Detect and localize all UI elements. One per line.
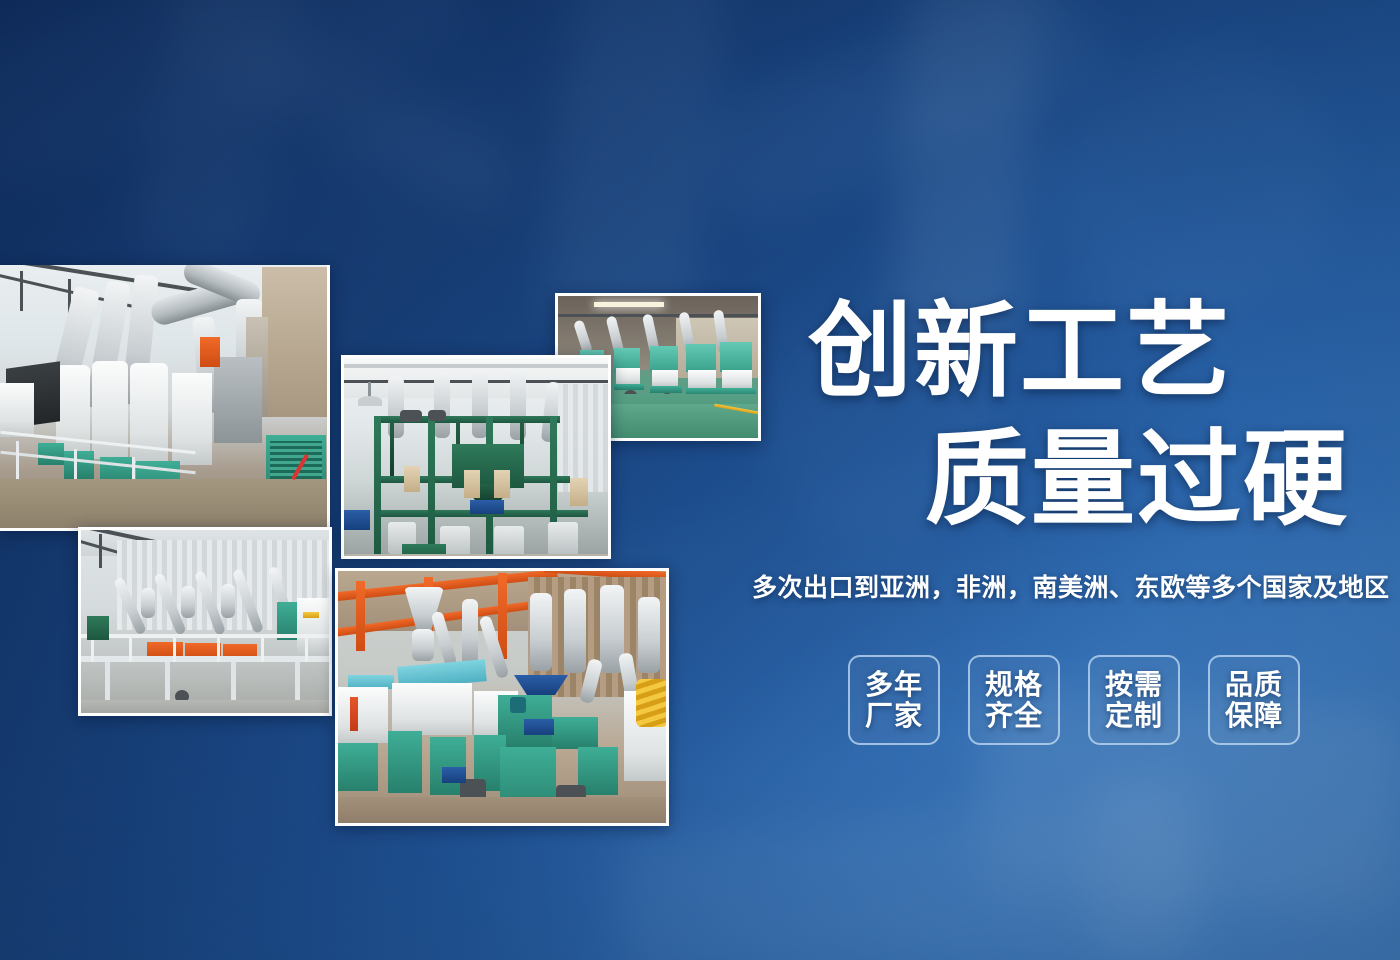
badge-experienced-manufacturer[interactable]: 多年 厂家	[848, 655, 940, 745]
badge-line-bottom: 厂家	[865, 700, 923, 731]
badge-line-top: 多年	[865, 669, 923, 700]
badge-line-bottom: 齐全	[985, 700, 1043, 731]
badge-line-top: 按需	[1105, 669, 1163, 700]
headline-line-2: 质量过硬	[925, 428, 1349, 532]
badge-custom-made[interactable]: 按需 定制	[1088, 655, 1180, 745]
badge-line-bottom: 保障	[1225, 700, 1283, 731]
subtitle-export-regions: 多次出口到亚洲，非洲，南美洲、东欧等多个国家及地区	[752, 568, 1390, 604]
photo-white-processing-line	[78, 527, 332, 716]
feature-badge-list: 多年 厂家 规格 齐全 按需 定制 品质 保障	[848, 655, 1300, 745]
promo-banner: 创新工艺 质量过硬 多次出口到亚洲，非洲，南美洲、东欧等多个国家及地区 多年 厂…	[0, 0, 1400, 960]
badge-line-top: 规格	[985, 669, 1043, 700]
badge-line-bottom: 定制	[1105, 700, 1163, 731]
badge-line-top: 品质	[1225, 669, 1283, 700]
headline-line-1: 创新工艺	[808, 300, 1232, 404]
badge-full-specifications[interactable]: 规格 齐全	[968, 655, 1060, 745]
photo-rice-mill-production-line	[0, 265, 330, 531]
photo-teal-machinery-orange-beams	[335, 568, 669, 826]
badge-quality-guarantee[interactable]: 品质 保障	[1208, 655, 1300, 745]
photo-green-flour-mill-frame	[341, 355, 611, 559]
